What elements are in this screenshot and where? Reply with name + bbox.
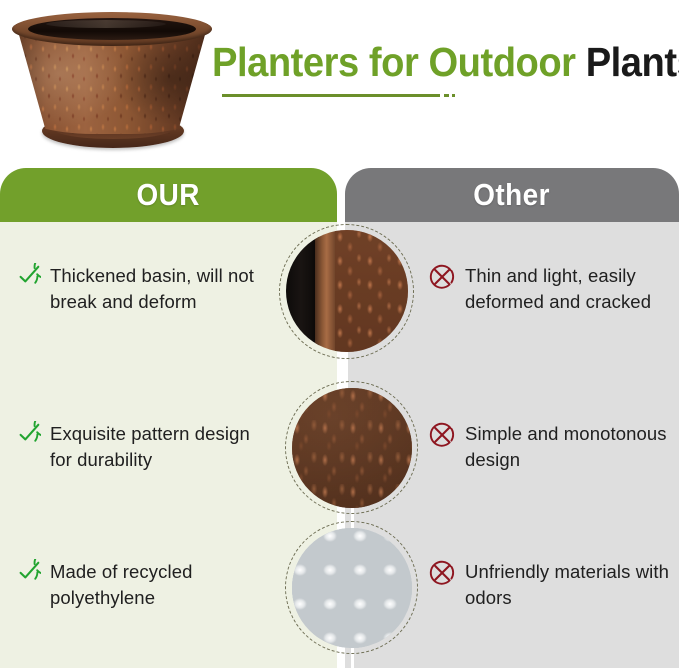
our-feature-text-1: Thickened basin, will not break and defo… xyxy=(50,262,255,316)
pot-wall-outer-texture xyxy=(335,230,408,352)
header: Planters for Outdoor Plants xyxy=(0,0,679,160)
other-feature-row-2: Simple and monotonous design xyxy=(428,420,678,474)
detail-image-polyethylene-pellets xyxy=(292,528,412,648)
circle-connector-3 xyxy=(351,646,354,668)
x-circle-icon xyxy=(428,421,456,449)
circle-connector-1 xyxy=(345,352,348,392)
our-feature-row-3: Made of recycled polyethylene xyxy=(13,558,261,612)
check-circle-icon xyxy=(13,559,41,587)
other-feature-row-3: Unfriendly materials with odors xyxy=(428,558,678,612)
pot-wall-interior-shadow xyxy=(286,230,319,352)
x-circle-icon xyxy=(428,263,456,291)
check-circle-icon xyxy=(13,263,41,291)
other-column-header: Other xyxy=(345,168,679,222)
our-feature-row-2: Exquisite pattern design for durability xyxy=(13,420,261,474)
other-feature-text-2: Simple and monotonous design xyxy=(465,420,677,474)
detail-image-pattern-texture xyxy=(292,388,412,508)
detail-image-wall-thickness xyxy=(286,230,408,352)
planter-rim xyxy=(12,12,212,46)
other-column-label: Other xyxy=(474,177,551,213)
pebble-texture-surface xyxy=(292,388,412,508)
title-underline-dash-2 xyxy=(452,94,455,97)
resin-pellets-surface xyxy=(292,528,412,648)
other-feature-text-1: Thin and light, easily deformed and crac… xyxy=(465,262,677,316)
other-feature-text-3: Unfriendly materials with odors xyxy=(465,558,677,612)
product-comparison-infographic: Planters for Outdoor Plants OUR Other Th… xyxy=(0,0,679,668)
our-feature-text-2: Exquisite pattern design for durability xyxy=(50,420,255,474)
title-underline-dash-1 xyxy=(444,94,449,97)
product-photo-planter xyxy=(6,2,218,160)
circle-connector-2 xyxy=(351,506,354,530)
check-circle-icon xyxy=(13,421,41,449)
planter-rim-highlight xyxy=(46,20,166,28)
our-column-header: OUR xyxy=(0,168,337,222)
x-circle-icon xyxy=(428,559,456,587)
page-title-black-part: Plants xyxy=(586,39,679,85)
our-feature-text-3: Made of recycled polyethylene xyxy=(50,558,255,612)
our-column-label: OUR xyxy=(137,177,200,213)
page-title: Planters for Outdoor Plants xyxy=(212,42,672,83)
pot-wall-edge xyxy=(315,230,336,352)
our-feature-row-1: Thickened basin, will not break and defo… xyxy=(13,262,261,316)
other-feature-row-1: Thin and light, easily deformed and crac… xyxy=(428,262,678,316)
title-underline xyxy=(222,94,440,97)
page-title-green-part: Planters for Outdoor xyxy=(212,39,576,85)
